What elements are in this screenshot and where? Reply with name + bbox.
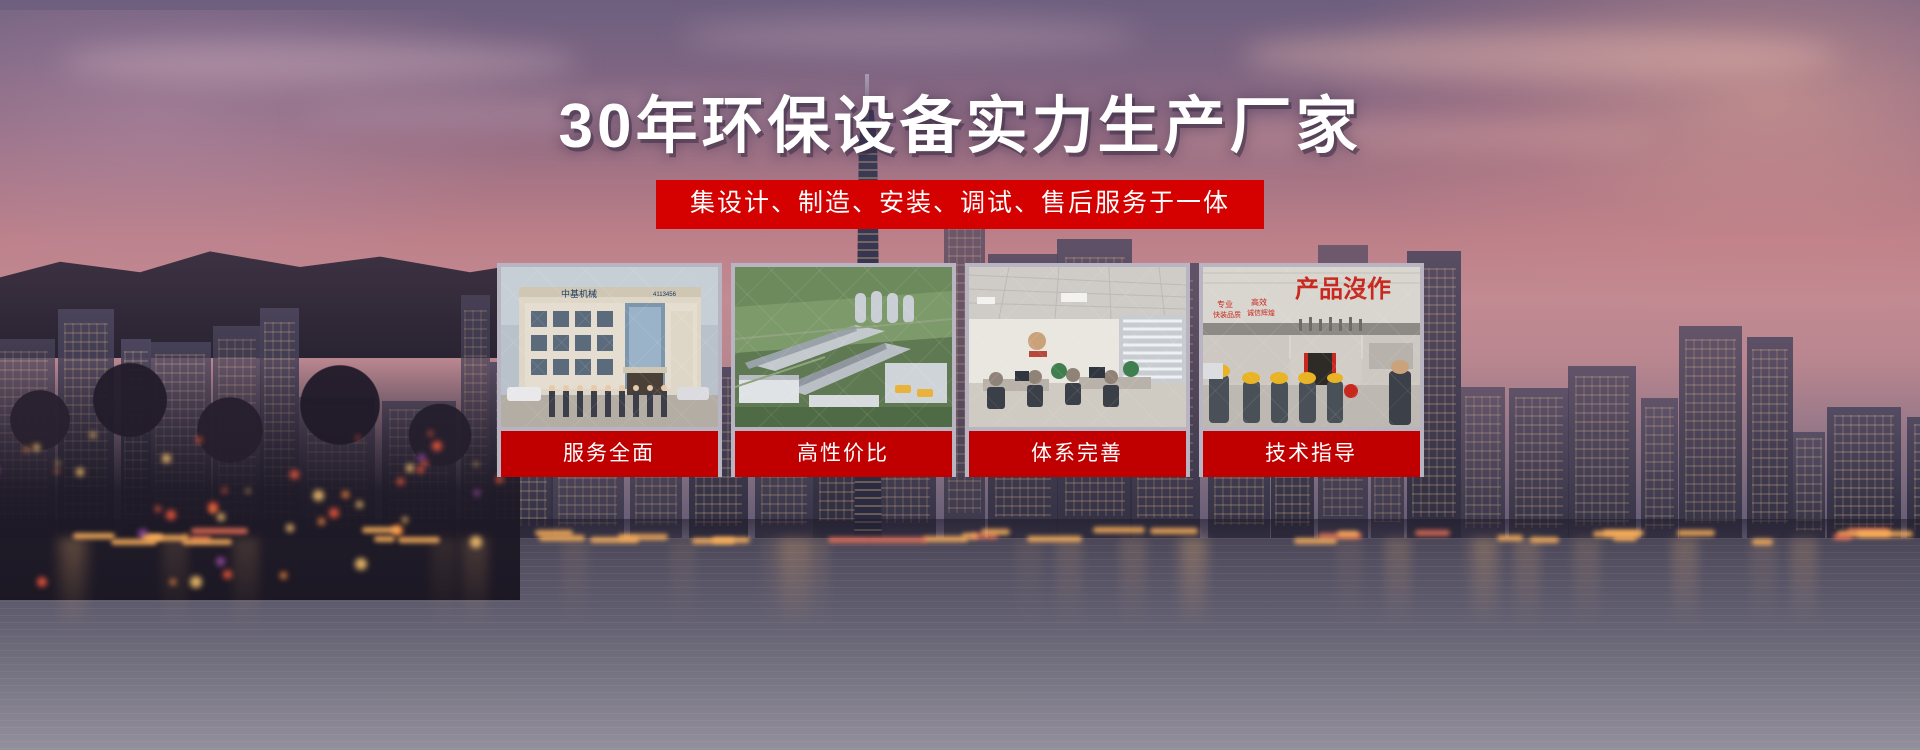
embankment-light: [1530, 537, 1559, 543]
water-reflection: [1465, 538, 1491, 630]
embankment-light: [868, 537, 927, 543]
water-reflection: [803, 538, 829, 630]
card-label: 服务全面: [501, 431, 718, 477]
card-thumbnail-factory-aerial: [735, 267, 952, 427]
water-reflection: [56, 538, 82, 630]
water-reflection: [1791, 538, 1817, 630]
card-label: 体系完善: [969, 431, 1186, 477]
embankment-light: [147, 534, 163, 540]
water-reflection: [562, 538, 588, 630]
embankment-light: [1752, 539, 1773, 545]
embankment-light: [1150, 528, 1198, 534]
embankment-light: [1857, 531, 1913, 537]
embankment-light: [1415, 530, 1450, 536]
embankment-light: [362, 527, 400, 533]
embankment-light: [73, 533, 115, 539]
water-reflection: [1514, 538, 1540, 630]
water-reflection: [233, 538, 259, 630]
embankment-light: [1337, 531, 1359, 537]
card-thumbnail-office-building: 中基机械 4113456: [501, 267, 718, 427]
water-reflection: [1016, 538, 1042, 630]
water-reflection: [162, 538, 188, 630]
embankment-light: [191, 528, 248, 534]
embankment-light: [828, 537, 870, 543]
water-reflection: [431, 538, 457, 630]
water-reflection: [1175, 538, 1201, 630]
feature-card[interactable]: 高性价比: [731, 263, 956, 477]
embankment-light: [981, 529, 1010, 535]
svg-text:4113456: 4113456: [653, 292, 677, 298]
feature-card[interactable]: 中基机械 4113456: [497, 263, 722, 477]
water-reflection: [670, 538, 696, 630]
subtitle-badge: 集设计、制造、安装、调试、售后服务于一体: [656, 180, 1264, 229]
water-reflection: [1336, 538, 1362, 630]
embankment-light: [712, 537, 750, 543]
embankment-light: [1613, 535, 1637, 541]
embankment-light: [1027, 536, 1082, 542]
embankment-light: [1677, 530, 1715, 536]
embankment-light: [182, 539, 232, 545]
embankment-light: [1833, 534, 1852, 540]
water-reflection: [1056, 538, 1082, 630]
water-reflection: [1385, 538, 1411, 630]
embankment-light: [590, 537, 639, 543]
card-thumbnail-office-interior: [969, 267, 1186, 427]
feature-card[interactable]: 体系完善: [965, 263, 1190, 477]
embankment-light: [1093, 527, 1145, 533]
water-reflection: [1120, 538, 1146, 630]
svg-text:快装品质: 快装品质: [1213, 310, 1241, 319]
feature-card[interactable]: 产品沒作 专业 快装品质 高效 诚信辉煌: [1199, 263, 1424, 477]
water-reflection: [762, 538, 788, 630]
hero-banner: 30年环保设备实力生产厂家 集设计、制造、安装、调试、售后服务于一体: [0, 0, 1920, 750]
water-reflection: [462, 538, 488, 630]
embankment-light: [398, 537, 440, 543]
page-title: 30年环保设备实力生产厂家: [559, 96, 1362, 158]
embankment-light: [374, 536, 395, 542]
svg-text:专业: 专业: [1217, 299, 1233, 309]
svg-text:诚信辉煌: 诚信辉煌: [1247, 308, 1275, 317]
water-reflection: [1574, 538, 1600, 630]
embankment-light: [535, 530, 573, 536]
embankment-light: [1497, 535, 1523, 541]
svg-text:中基机械: 中基机械: [561, 288, 597, 299]
card-label: 高性价比: [735, 431, 952, 477]
svg-text:高效: 高效: [1251, 297, 1267, 307]
card-label: 技术指导: [1203, 431, 1420, 477]
banner-content: 30年环保设备实力生产厂家 集设计、制造、安装、调试、售后服务于一体: [0, 0, 1920, 750]
svg-text:产品沒作: 产品沒作: [1295, 275, 1391, 303]
embankment-light: [962, 533, 978, 539]
embankment-light: [1294, 538, 1337, 544]
water-reflection: [1750, 538, 1776, 630]
feature-card-list: 中基机械 4113456: [497, 263, 1424, 477]
water-reflection: [1672, 538, 1698, 630]
card-thumbnail-workshop-workers: 产品沒作 专业 快装品质 高效 诚信辉煌: [1203, 267, 1420, 427]
